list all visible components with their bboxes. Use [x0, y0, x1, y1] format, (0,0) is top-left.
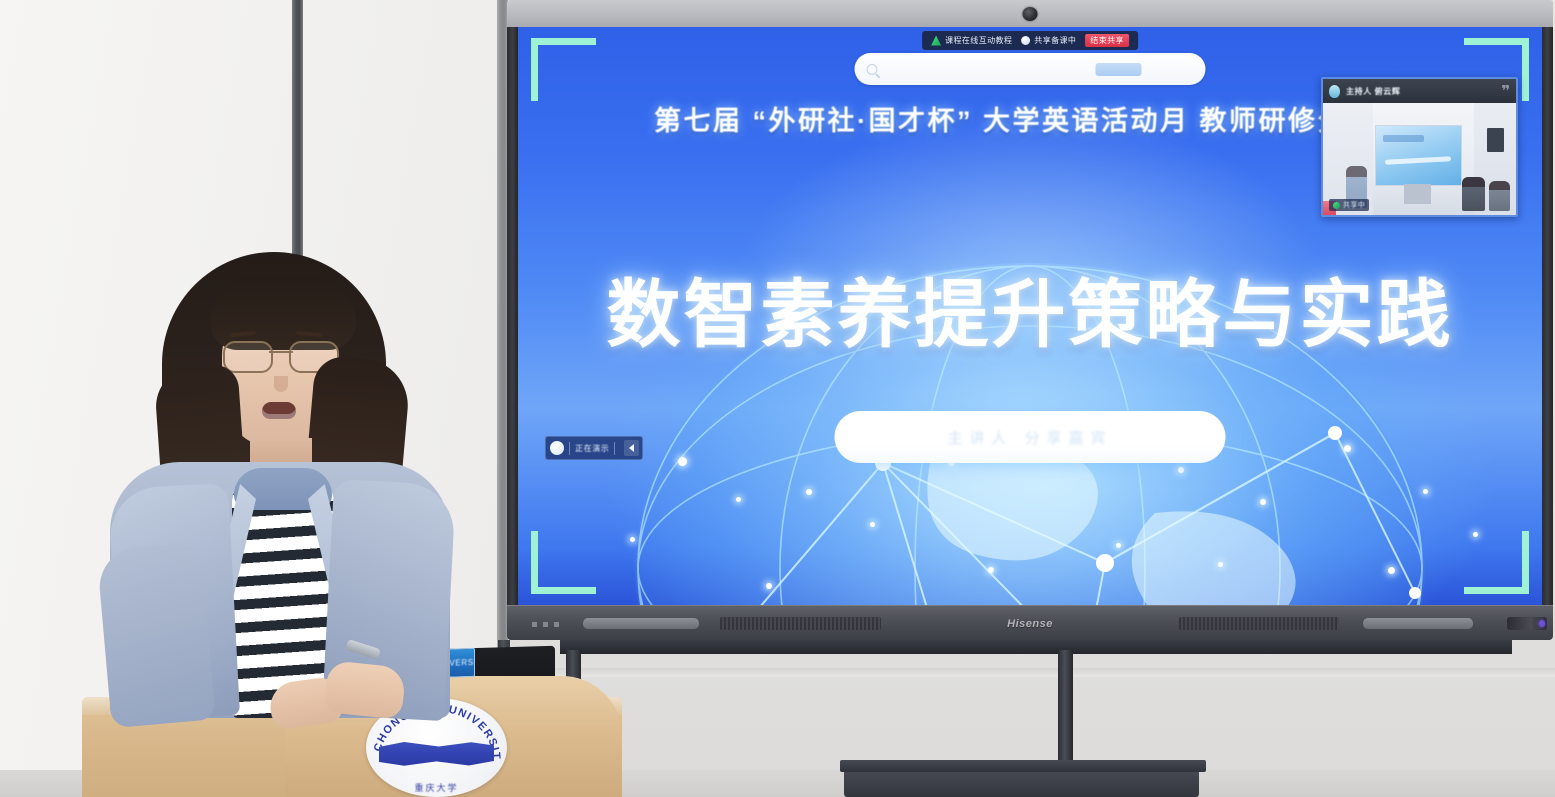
search-chip[interactable] — [1096, 63, 1142, 76]
participant-avatar-icon — [550, 441, 564, 455]
signal-green-icon — [931, 36, 941, 46]
corner-bracket-bottom-left — [531, 531, 596, 594]
toolbar-item-course[interactable]: 课程在线互动教程 — [931, 35, 1012, 46]
pip-video-feed[interactable]: 共享中 — [1323, 103, 1516, 215]
toolbar-item-course-label: 课程在线互动教程 — [945, 35, 1012, 46]
pip-speaker-name: 主持人 俯云辉 — [1346, 86, 1400, 97]
presenter-arm-left — [96, 542, 215, 728]
interactive-flat-panel[interactable]: 课程在线互动教程 共享备课中 结束共享 第七届 “外研社·国才杯” 大学英语活动… — [507, 0, 1553, 640]
pip-classroom-screen — [1375, 125, 1462, 185]
stop-sharing-badge[interactable]: 结束共享 — [1085, 34, 1129, 47]
picture-in-picture-window[interactable]: 主持人 俯云辉 ❞ 共享中 — [1321, 77, 1518, 217]
screen-search-bar[interactable] — [855, 53, 1206, 85]
presenter-nose — [274, 376, 288, 392]
corner-bracket-top-left — [531, 38, 596, 101]
presentation-overlay-control[interactable]: 正在演示 — [545, 436, 643, 460]
pip-screen-stand — [1404, 184, 1431, 204]
pip-door — [1487, 128, 1504, 153]
tv-brand-label: Hisense — [1007, 618, 1053, 630]
presenter-hair-fringe — [210, 276, 356, 350]
tv-stand-crossbar — [840, 760, 1206, 772]
toolbar-item-sharing-label: 共享备课中 — [1034, 35, 1076, 46]
camera-icon — [1023, 7, 1038, 21]
chevron-left-icon[interactable] — [624, 440, 639, 456]
tv-bottom-bezel: Hisense — [507, 605, 1553, 640]
toolbar-item-sharing[interactable]: 共享备课中 — [1021, 35, 1076, 46]
overlay-status-label: 正在演示 — [575, 443, 609, 454]
wall-baseline — [500, 668, 1555, 677]
presenter-mouth — [262, 402, 296, 419]
pip-person-3 — [1489, 181, 1510, 210]
presenter — [110, 246, 450, 716]
quote-marks-icon: ❞ — [1501, 84, 1510, 99]
slide-subtitle-pill: 主讲人 分享嘉宾 — [835, 411, 1226, 463]
screen-toolbar[interactable]: 课程在线互动教程 共享备课中 结束共享 — [922, 31, 1138, 50]
speaker-avatar-icon — [1329, 85, 1340, 98]
pip-sharing-label: 共享中 — [1343, 200, 1365, 210]
tv-speaker-grille-left — [720, 617, 881, 630]
slide-title: 数智素养提升策略与实践 — [518, 255, 1542, 362]
tv-top-bezel — [507, 0, 1553, 27]
record-dot-icon — [1333, 202, 1340, 209]
tv-speaker-grille-right — [1179, 617, 1339, 630]
cloud-white-icon — [1021, 36, 1030, 45]
slide-subtitle-text: 主讲人 分享嘉宾 — [947, 427, 1112, 448]
tv-bezel-left — [507, 27, 518, 612]
pip-title-bar: 主持人 俯云辉 ❞ — [1323, 79, 1516, 103]
pip-person-2 — [1462, 177, 1485, 211]
tv-button-left[interactable] — [583, 618, 699, 629]
corner-bracket-bottom-right — [1464, 531, 1529, 594]
presentation-photo-scene: 课程在线互动教程 共享备课中 结束共享 第七届 “外研社·国才杯” 大学英语活动… — [0, 0, 1555, 797]
divider-2 — [614, 442, 615, 455]
tv-power-led — [1539, 620, 1545, 627]
tv-button-right[interactable] — [1363, 618, 1473, 629]
divider — [569, 442, 570, 455]
search-icon — [867, 64, 878, 75]
tv-bezel-right — [1542, 27, 1553, 612]
emblem-chinese-name: 重庆大学 — [366, 781, 507, 794]
tv-stand-top-bar — [560, 640, 1512, 654]
tv-status-leds — [532, 622, 565, 627]
pip-sharing-tag: 共享中 — [1329, 199, 1369, 211]
screen-surface[interactable]: 课程在线互动教程 共享备课中 结束共享 第七届 “外研社·国才杯” 大学英语活动… — [518, 27, 1542, 605]
